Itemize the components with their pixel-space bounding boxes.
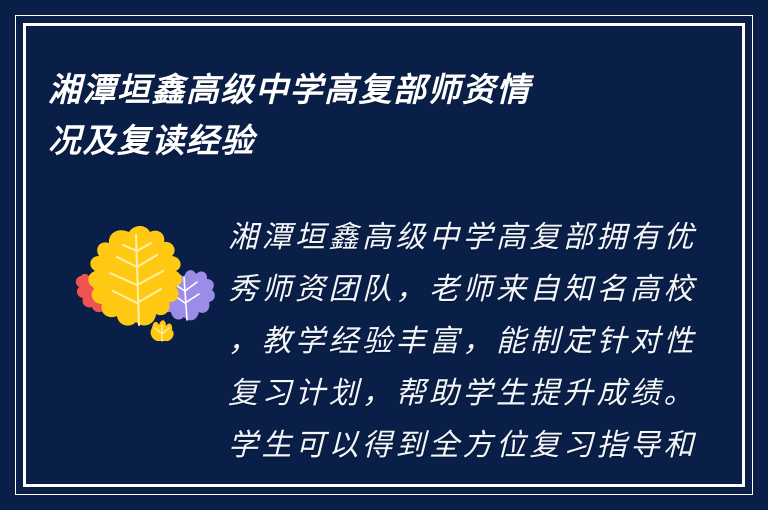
small-yellow-leaf-icon bbox=[151, 320, 174, 341]
poster-canvas: 湘潭垣鑫高级中学高复部师资情 况及复读经验 bbox=[0, 0, 768, 510]
leaves-svg bbox=[60, 215, 224, 347]
autumn-leaves-illustration bbox=[60, 215, 224, 347]
body-line-3: ，教学经验丰富，能制定针对性 bbox=[228, 316, 654, 368]
title-line-1: 湘潭垣鑫高级中学高复部师资情 bbox=[48, 64, 708, 115]
body-line-2: 秀师资团队，老师来自知名高校 bbox=[228, 264, 654, 316]
body-paragraph: 湘潭垣鑫高级中学高复部拥有优 秀师资团队，老师来自知名高校 ，教学经验丰富，能制… bbox=[228, 212, 654, 472]
body-line-4: 复习计划，帮助学生提升成绩。 bbox=[228, 368, 654, 420]
title-line-2: 况及复读经验 bbox=[48, 115, 708, 166]
yellow-oak-leaf-icon bbox=[88, 226, 182, 326]
page-title: 湘潭垣鑫高级中学高复部师资情 况及复读经验 bbox=[48, 64, 708, 166]
body-line-1: 湘潭垣鑫高级中学高复部拥有优 bbox=[228, 212, 654, 264]
body-line-5: 学生可以得到全方位复习指导和 bbox=[228, 420, 654, 472]
